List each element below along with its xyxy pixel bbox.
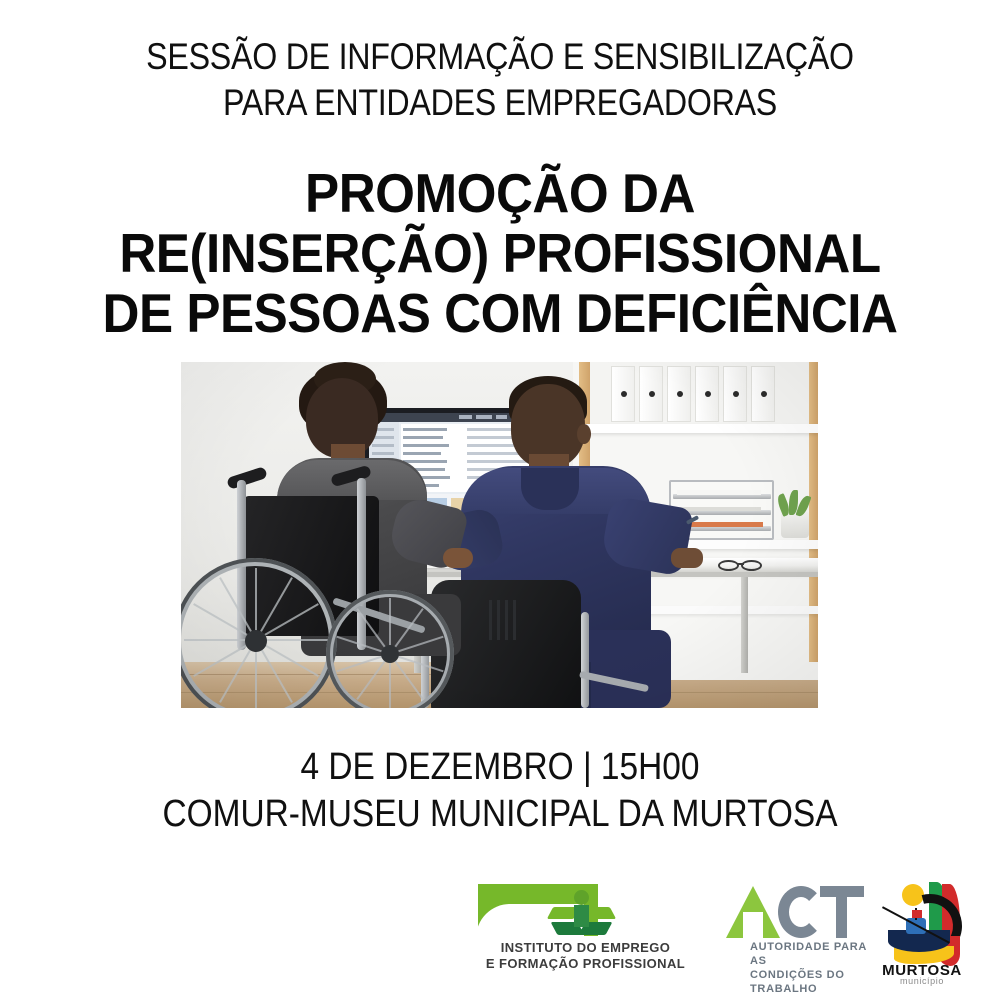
iefp-line-1: INSTITUTO DO EMPREGO bbox=[478, 940, 693, 956]
murtosa-subtitle: município bbox=[872, 976, 972, 986]
title-line-3: DE PESSOAS COM DEFICIÊNCIA bbox=[35, 283, 965, 343]
act-line-2: CONDIÇÕES DO TRABALHO bbox=[750, 968, 880, 996]
murtosa-logo: MURTOSA município bbox=[872, 880, 972, 985]
header-line-1: SESSÃO DE INFORMAÇÃO E SENSIBILIZAÇÃO bbox=[65, 34, 935, 80]
event-photo bbox=[181, 362, 818, 708]
header-subtitle: SESSÃO DE INFORMAÇÃO E SENSIBILIZAÇÃO PA… bbox=[0, 34, 1000, 126]
act-letter-a-cutout bbox=[743, 912, 763, 938]
iefp-line-2: E FORMAÇÃO PROFISSIONAL bbox=[478, 956, 693, 972]
iefp-wordmark: INSTITUTO DO EMPREGO E FORMAÇÃO PROFISSI… bbox=[478, 940, 693, 972]
title-line-2: RE(INSERÇÃO) PROFISSIONAL bbox=[35, 223, 965, 283]
header-line-2: PARA ENTIDADES EMPREGADORAS bbox=[65, 80, 935, 126]
act-line-1: AUTORIDADE PARA AS bbox=[750, 940, 880, 968]
act-letter-c bbox=[778, 886, 824, 938]
act-logo: AUTORIDADE PARA AS CONDIÇÕES DO TRABALHO bbox=[720, 884, 880, 984]
act-acronym-mark bbox=[726, 886, 866, 938]
act-wordmark: AUTORIDADE PARA AS CONDIÇÕES DO TRABALHO bbox=[750, 940, 880, 996]
event-date-time: 4 DE DEZEMBRO | 15H00 bbox=[60, 744, 940, 791]
title-line-1: PROMOÇÃO DA bbox=[35, 163, 965, 223]
icon-head bbox=[574, 890, 589, 905]
iefp-person-icon bbox=[550, 890, 612, 942]
event-details: 4 DE DEZEMBRO | 15H00 COMUR-MUSEU MUNICI… bbox=[0, 744, 1000, 838]
poster-canvas: SESSÃO DE INFORMAÇÃO E SENSIBILIZAÇÃO PA… bbox=[0, 0, 1000, 1000]
event-venue: COMUR-MUSEU MUNICIPAL DA MURTOSA bbox=[60, 791, 940, 838]
icon-torso bbox=[574, 905, 589, 927]
photo-vignette bbox=[181, 362, 818, 708]
logo-row: INSTITUTO DO EMPREGO E FORMAÇÃO PROFISSI… bbox=[0, 878, 1000, 990]
page-title: PROMOÇÃO DA RE(INSERÇÃO) PROFISSIONAL DE… bbox=[0, 163, 1000, 343]
iefp-logo: INSTITUTO DO EMPREGO E FORMAÇÃO PROFISSI… bbox=[478, 878, 693, 983]
murtosa-boat-flag bbox=[912, 910, 922, 918]
act-letter-t-stem bbox=[836, 886, 847, 938]
